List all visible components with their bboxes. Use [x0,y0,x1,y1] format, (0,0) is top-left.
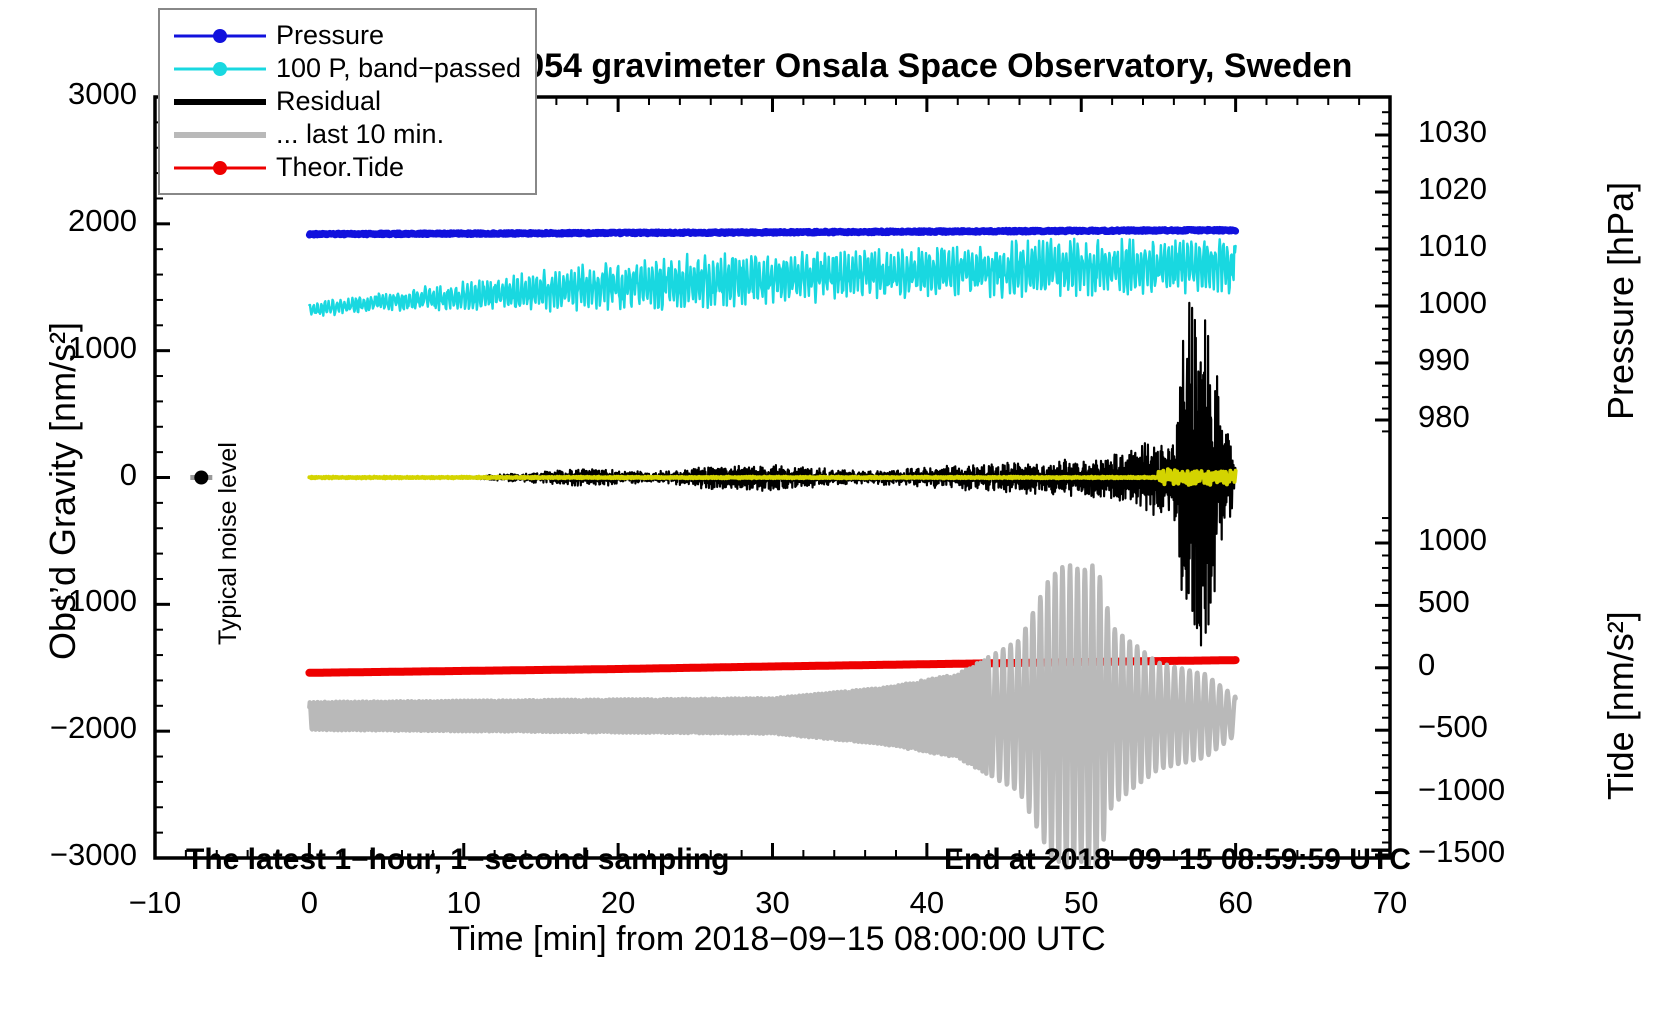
series-pressure-bandpassed [309,239,1235,316]
annotation-bottom-left: The latest 1−hour, 1−second sampling [186,843,730,877]
series-pressure [309,229,1235,235]
annotation-bottom-right: End at 2018−09−15 08:59:59 UTC [944,843,1411,877]
y-right-pressure-tick-label: 1030 [1418,114,1487,150]
x-tick-label: 0 [301,885,318,921]
x-tick-label: 50 [1064,885,1098,921]
y-right-pressure-axis-title: Pressure [hPa] [1600,182,1642,420]
legend-label-theoretical-tide: Theor.Tide [276,152,404,183]
legend-label-residual-last-10min: ... last 10 min. [276,119,444,150]
y-right-pressure-tick-label: 980 [1418,399,1470,435]
chart-title: SCG_054 gravimeter Onsala Space Observat… [433,47,1353,86]
x-tick-label: 40 [910,885,944,921]
y-right-tide-tick-label: 1000 [1418,522,1487,558]
y-left-axis-title: Obs’d Gravity [nm/s²] [42,322,84,660]
y-left-tick-label: −2000 [50,710,137,746]
y-right-tide-tick-label: −500 [1418,709,1488,745]
x-tick-label: −10 [129,885,182,921]
x-tick-label: 70 [1373,885,1407,921]
legend-item-pressure-bandpassed[interactable]: 100 P, band−passed [174,52,529,85]
legend-label-pressure: Pressure [276,20,384,51]
y-right-pressure-tick-label: 1010 [1418,228,1487,264]
y-right-pressure-tick-label: 1000 [1418,285,1487,321]
x-tick-label: 20 [601,885,635,921]
legend-label-residual: Residual [276,86,381,117]
series-residual-last-10min [309,566,1235,868]
legend-item-residual-last-10min[interactable]: ... last 10 min. [174,118,529,151]
noise-level-dot [194,471,208,485]
y-right-pressure-tick-label: 1020 [1418,171,1487,207]
y-left-tick-label: 0 [120,457,137,493]
chart-canvas: SCG_054 gravimeter Onsala Space Observat… [0,0,1660,1020]
legend-item-theoretical-tide[interactable]: Theor.Tide [174,151,529,184]
legend: Pressure100 P, band−passedResidual... la… [158,8,537,195]
legend-item-residual[interactable]: Residual [174,85,529,118]
x-tick-label: 10 [447,885,481,921]
legend-label-pressure-bandpassed: 100 P, band−passed [276,53,521,84]
y-left-tick-label: −3000 [50,837,137,873]
y-right-tide-axis-title: Tide [nm/s²] [1600,611,1642,800]
y-right-tide-tick-label: 500 [1418,584,1470,620]
y-right-pressure-tick-label: 990 [1418,342,1470,378]
noise-level-label: Typical noise level [214,442,243,645]
y-right-tide-tick-label: 0 [1418,647,1435,683]
y-left-tick-label: 2000 [68,203,137,239]
x-axis-title: Time [min] from 2018−09−15 08:00:00 UTC [449,920,1105,959]
y-left-tick-label: 3000 [68,76,137,112]
y-right-tide-tick-label: −1500 [1418,834,1505,870]
x-tick-label: 60 [1218,885,1252,921]
series-residual [309,303,1235,646]
legend-item-pressure[interactable]: Pressure [174,19,529,52]
y-right-tide-tick-label: −1000 [1418,772,1505,808]
x-tick-label: 30 [755,885,789,921]
